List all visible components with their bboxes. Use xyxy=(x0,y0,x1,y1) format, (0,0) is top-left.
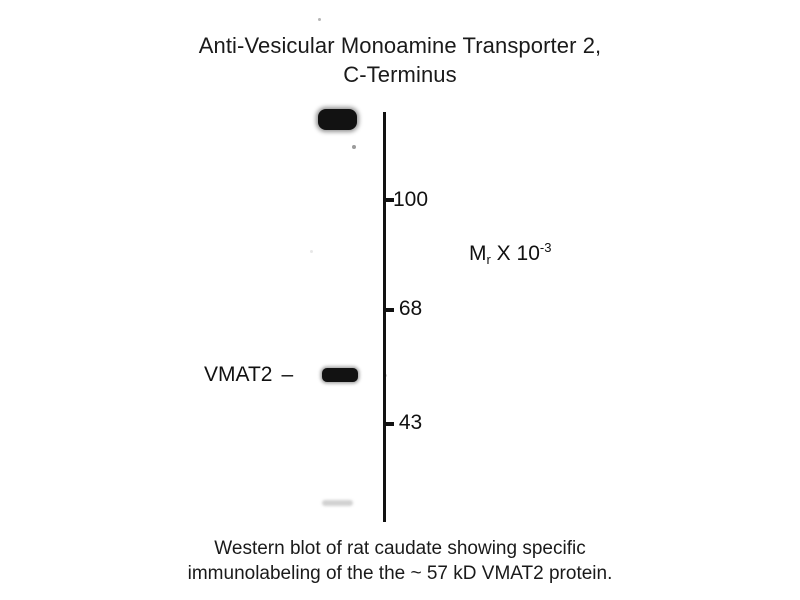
figure-caption: Western blot of rat caudate showing spec… xyxy=(0,536,800,586)
film-speck-icon xyxy=(352,145,356,149)
mr-legend-superscript: -3 xyxy=(540,240,552,255)
figure-title-line-1: Anti-Vesicular Monoamine Transporter 2, xyxy=(0,31,800,60)
film-speck-icon xyxy=(310,250,313,253)
figure-caption-line-1: Western blot of rat caudate showing spec… xyxy=(0,536,800,561)
figure-title: Anti-Vesicular Monoamine Transporter 2, … xyxy=(0,31,800,89)
mr-scale-legend: Mr X 10-3 xyxy=(469,243,551,267)
figure-caption-line-2: immunolabeling of the the ~ 57 kD VMAT2 … xyxy=(0,561,800,586)
vmat2-annotation: VMAT2– xyxy=(204,364,293,386)
mr-legend-mid: X 10 xyxy=(491,242,540,265)
film-speck-icon xyxy=(318,18,321,21)
mw-label-43: - 43 xyxy=(386,412,422,433)
mw-label-68: - 68 xyxy=(386,298,422,319)
vmat2-pointer-dash-icon: – xyxy=(281,364,293,386)
vmat2-band xyxy=(322,368,358,382)
mr-legend-base: M xyxy=(469,242,487,265)
dye-front-smear xyxy=(322,500,353,506)
western-blot-figure: Anti-Vesicular Monoamine Transporter 2, … xyxy=(0,0,800,600)
mr-legend-subscript: r xyxy=(487,252,491,267)
mw-label-100: -100 xyxy=(386,189,428,210)
vmat2-label: VMAT2 xyxy=(204,363,272,386)
figure-title-line-2: C-Terminus xyxy=(0,60,800,89)
high-molecular-weight-band xyxy=(318,109,357,130)
